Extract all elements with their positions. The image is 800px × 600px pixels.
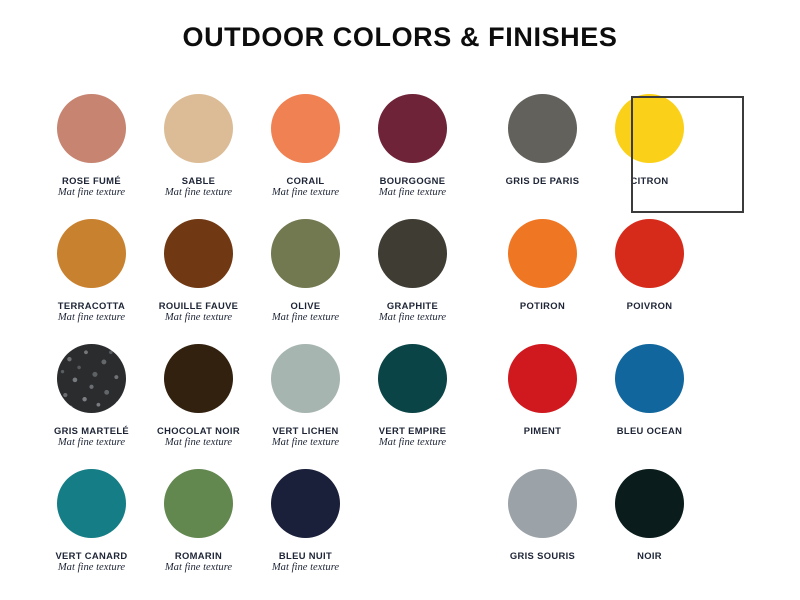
swatch-grid: ROSE FUMÉMat fine textureSABLEMat fine t…	[38, 88, 762, 588]
swatch-labels: POTIRON	[520, 300, 565, 311]
swatch-finish-note: Mat fine texture	[379, 437, 446, 450]
color-swatch[interactable]	[615, 469, 684, 538]
color-swatch[interactable]	[615, 344, 684, 413]
color-swatch[interactable]	[57, 219, 126, 288]
swatch-wrap	[57, 88, 126, 168]
color-swatch[interactable]	[164, 469, 233, 538]
swatch-finish-note: Mat fine texture	[55, 562, 127, 575]
swatch-row: ROSE FUMÉMat fine textureSABLEMat fine t…	[38, 88, 762, 213]
swatch-finish-note: Mat fine texture	[272, 562, 339, 575]
swatch-labels: CITRON	[630, 175, 668, 186]
swatch-name: CHOCOLAT NOIR	[157, 425, 240, 436]
swatch-wrap	[57, 463, 126, 543]
swatch-labels: PIMENT	[524, 425, 562, 436]
swatch-wrap	[378, 88, 447, 168]
swatch-labels: BLEU OCEAN	[617, 425, 682, 436]
swatch-cell[interactable]: POTIRON	[489, 213, 596, 338]
swatch-finish-note: Mat fine texture	[272, 437, 339, 450]
swatch-finish-note: Mat fine texture	[165, 187, 232, 200]
swatch-finish-note: Mat fine texture	[272, 312, 339, 325]
column-group-gap	[466, 213, 489, 338]
swatch-labels: ROMARINMat fine texture	[165, 550, 232, 575]
swatch-name: CITRON	[630, 175, 668, 186]
swatch-wrap	[508, 213, 577, 293]
swatch-cell[interactable]: GRIS SOURIS	[489, 463, 596, 588]
color-swatch[interactable]	[57, 344, 126, 413]
swatch-name: GRIS MARTELÉ	[54, 425, 129, 436]
swatch-cell[interactable]: GRAPHITEMat fine texture	[359, 213, 466, 338]
color-swatch[interactable]	[378, 219, 447, 288]
swatch-cell[interactable]: GRIS DE PARIS	[489, 88, 596, 213]
swatch-wrap	[164, 463, 233, 543]
swatch-labels: OLIVEMat fine texture	[272, 300, 339, 325]
swatch-finish-note: Mat fine texture	[379, 187, 446, 200]
color-swatch[interactable]	[271, 469, 340, 538]
swatch-cell[interactable]: BLEU NUITMat fine texture	[252, 463, 359, 588]
swatch-cell[interactable]: ROSE FUMÉMat fine texture	[38, 88, 145, 213]
swatch-finish-note: Mat fine texture	[165, 562, 232, 575]
color-swatch[interactable]	[378, 94, 447, 163]
color-chart-page: OUTDOOR COLORS & FINISHES ROSE FUMÉMat f…	[0, 0, 800, 600]
swatch-name: ROUILLE FAUVE	[159, 300, 239, 311]
swatch-labels: GRIS SOURIS	[510, 550, 575, 561]
swatch-name: BLEU OCEAN	[617, 425, 682, 436]
swatch-name: SABLE	[165, 175, 232, 186]
swatch-finish-note: Mat fine texture	[157, 437, 240, 450]
color-swatch[interactable]	[271, 94, 340, 163]
color-swatch[interactable]	[57, 94, 126, 163]
swatch-row: VERT CANARDMat fine textureROMARINMat fi…	[38, 463, 762, 588]
swatch-labels: CORAILMat fine texture	[272, 175, 339, 200]
swatch-name: VERT EMPIRE	[379, 425, 446, 436]
swatch-cell[interactable]: ROUILLE FAUVEMat fine texture	[145, 213, 252, 338]
swatch-wrap	[57, 213, 126, 293]
swatch-labels: GRIS MARTELÉMat fine texture	[54, 425, 129, 450]
swatch-labels: ROSE FUMÉMat fine texture	[58, 175, 125, 200]
swatch-labels: VERT LICHENMat fine texture	[272, 425, 339, 450]
swatch-wrap	[57, 338, 126, 418]
swatch-labels: SABLEMat fine texture	[165, 175, 232, 200]
column-group-gap	[466, 338, 489, 463]
color-swatch[interactable]	[164, 219, 233, 288]
color-swatch[interactable]	[508, 94, 577, 163]
column-group-gap	[466, 463, 489, 588]
swatch-name: OLIVE	[272, 300, 339, 311]
swatch-cell[interactable]: VERT CANARDMat fine texture	[38, 463, 145, 588]
swatch-cell[interactable]: POIVRON	[596, 213, 703, 338]
swatch-wrap	[271, 213, 340, 293]
color-swatch[interactable]	[508, 219, 577, 288]
swatch-finish-note: Mat fine texture	[272, 187, 339, 200]
swatch-labels: POIVRON	[627, 300, 673, 311]
swatch-name: TERRACOTTA	[58, 300, 125, 311]
swatch-row: TERRACOTTAMat fine textureROUILLE FAUVEM…	[38, 213, 762, 338]
swatch-labels: CHOCOLAT NOIRMat fine texture	[157, 425, 240, 450]
swatch-finish-note: Mat fine texture	[159, 312, 239, 325]
swatch-name: NOIR	[637, 550, 662, 561]
color-swatch[interactable]	[615, 219, 684, 288]
swatch-cell[interactable]: NOIR	[596, 463, 703, 588]
swatch-cell[interactable]: PIMENT	[489, 338, 596, 463]
swatch-wrap	[164, 213, 233, 293]
swatch-name: BOURGOGNE	[379, 175, 446, 186]
swatch-name: ROSE FUMÉ	[58, 175, 125, 186]
swatch-name: PIMENT	[524, 425, 562, 436]
swatch-cell[interactable]: CHOCOLAT NOIRMat fine texture	[145, 338, 252, 463]
color-swatch[interactable]	[164, 94, 233, 163]
swatch-labels: TERRACOTTAMat fine texture	[58, 300, 125, 325]
swatch-cell[interactable]: OLIVEMat fine texture	[252, 213, 359, 338]
color-swatch[interactable]	[508, 469, 577, 538]
swatch-row: GRIS MARTELÉMat fine textureCHOCOLAT NOI…	[38, 338, 762, 463]
swatch-wrap	[271, 338, 340, 418]
swatch-cell[interactable]: BLEU OCEAN	[596, 338, 703, 463]
swatch-wrap	[378, 213, 447, 293]
swatch-wrap	[508, 338, 577, 418]
swatch-cell[interactable]: CITRON	[596, 88, 703, 213]
swatch-labels: GRIS DE PARIS	[506, 175, 580, 186]
color-swatch[interactable]	[164, 344, 233, 413]
swatch-cell[interactable]: VERT EMPIREMat fine texture	[359, 338, 466, 463]
swatch-labels: VERT EMPIREMat fine texture	[379, 425, 446, 450]
swatch-cell[interactable]: BOURGOGNEMat fine texture	[359, 88, 466, 213]
swatch-labels: VERT CANARDMat fine texture	[55, 550, 127, 575]
swatch-name: GRAPHITE	[379, 300, 446, 311]
swatch-wrap	[615, 88, 684, 168]
swatch-labels: NOIR	[637, 550, 662, 561]
swatch-name: BLEU NUIT	[272, 550, 339, 561]
swatch-name: ROMARIN	[165, 550, 232, 561]
swatch-name: POIVRON	[627, 300, 673, 311]
swatch-finish-note: Mat fine texture	[58, 312, 125, 325]
swatch-wrap	[508, 463, 577, 543]
color-swatch[interactable]	[508, 344, 577, 413]
color-swatch[interactable]	[615, 94, 684, 163]
swatch-name: GRIS DE PARIS	[506, 175, 580, 186]
swatch-labels: GRAPHITEMat fine texture	[379, 300, 446, 325]
color-swatch[interactable]	[271, 344, 340, 413]
swatch-name: VERT LICHEN	[272, 425, 339, 436]
swatch-cell[interactable]: GRIS MARTELÉMat fine texture	[38, 338, 145, 463]
swatch-cell[interactable]: TERRACOTTAMat fine texture	[38, 213, 145, 338]
swatch-wrap	[271, 88, 340, 168]
swatch-wrap	[615, 338, 684, 418]
swatch-labels: BLEU NUITMat fine texture	[272, 550, 339, 575]
swatch-labels: BOURGOGNEMat fine texture	[379, 175, 446, 200]
swatch-finish-note: Mat fine texture	[54, 437, 129, 450]
swatch-cell[interactable]: ROMARINMat fine texture	[145, 463, 252, 588]
swatch-finish-note: Mat fine texture	[58, 187, 125, 200]
swatch-wrap	[378, 338, 447, 418]
swatch-name: GRIS SOURIS	[510, 550, 575, 561]
swatch-name: POTIRON	[520, 300, 565, 311]
swatch-labels: ROUILLE FAUVEMat fine texture	[159, 300, 239, 325]
swatch-wrap	[271, 463, 340, 543]
swatch-wrap	[615, 463, 684, 543]
swatch-cell[interactable]: CORAILMat fine texture	[252, 88, 359, 213]
color-swatch[interactable]	[271, 219, 340, 288]
swatch-wrap	[164, 88, 233, 168]
swatch-name: VERT CANARD	[55, 550, 127, 561]
swatch-cell[interactable]: VERT LICHENMat fine texture	[252, 338, 359, 463]
color-swatch[interactable]	[378, 344, 447, 413]
swatch-wrap	[508, 88, 577, 168]
column-group-gap	[466, 88, 489, 213]
color-swatch[interactable]	[57, 469, 126, 538]
swatch-name: CORAIL	[272, 175, 339, 186]
swatch-cell[interactable]: SABLEMat fine texture	[145, 88, 252, 213]
swatch-wrap	[164, 338, 233, 418]
swatch-finish-note: Mat fine texture	[379, 312, 446, 325]
page-title: OUTDOOR COLORS & FINISHES	[0, 22, 800, 53]
swatch-wrap	[615, 213, 684, 293]
